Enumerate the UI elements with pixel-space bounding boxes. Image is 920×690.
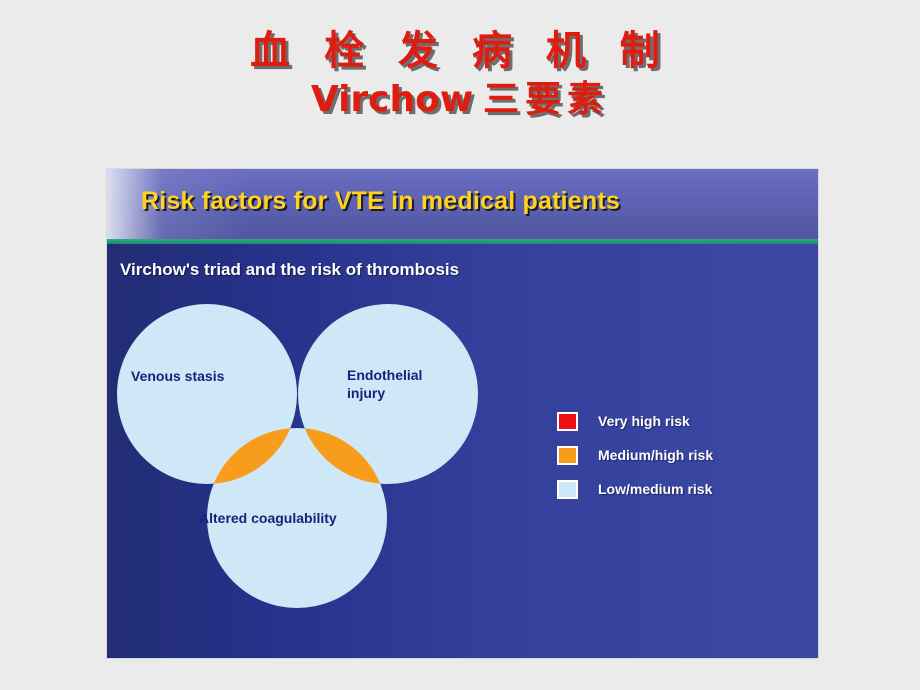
legend-label-medium-high-risk: Medium/high risk	[598, 447, 713, 463]
page-title-line-1: 血 栓 发 病 机 制	[0, 26, 920, 76]
legend-swatch-very-high-risk	[557, 412, 578, 431]
venn-diagram: Venous stasis Endothelial injury Altered…	[107, 302, 507, 612]
slide-header-title: Risk factors for VTE in medical patients	[141, 187, 620, 216]
legend-item-very-high-risk: Very high risk	[557, 404, 807, 438]
page-title-chinese: 三要素	[483, 79, 609, 120]
page-title-latin: Virchow	[311, 79, 473, 120]
slide-header-band: Risk factors for VTE in medical patients	[107, 169, 818, 239]
legend-item-low-medium-risk: Low/medium risk	[557, 472, 807, 506]
legend-label-very-high-risk: Very high risk	[598, 413, 690, 429]
venn-label-venous-stasis: Venous stasis	[131, 368, 224, 386]
page-title: 血 栓 发 病 机 制 Virchow三要素	[0, 26, 920, 121]
legend-item-medium-high-risk: Medium/high risk	[557, 438, 807, 472]
page-title-line-2: Virchow三要素	[0, 78, 920, 121]
venn-label-altered-coagulability: Altered coagulability	[199, 510, 337, 528]
venn-svg	[107, 302, 507, 612]
venn-circles-base	[117, 304, 478, 608]
legend-swatch-medium-high-risk	[557, 446, 578, 465]
legend-swatch-low-medium-risk	[557, 480, 578, 499]
risk-legend: Very high risk Medium/high risk Low/medi…	[557, 404, 807, 506]
slide-container: Risk factors for VTE in medical patients…	[107, 169, 818, 658]
slide-body: Virchow's triad and the risk of thrombos…	[107, 244, 818, 658]
legend-label-low-medium-risk: Low/medium risk	[598, 481, 712, 497]
venn-label-endothelial-injury: Endothelial injury	[347, 367, 422, 402]
slide-subtitle: Virchow's triad and the risk of thrombos…	[120, 260, 459, 280]
